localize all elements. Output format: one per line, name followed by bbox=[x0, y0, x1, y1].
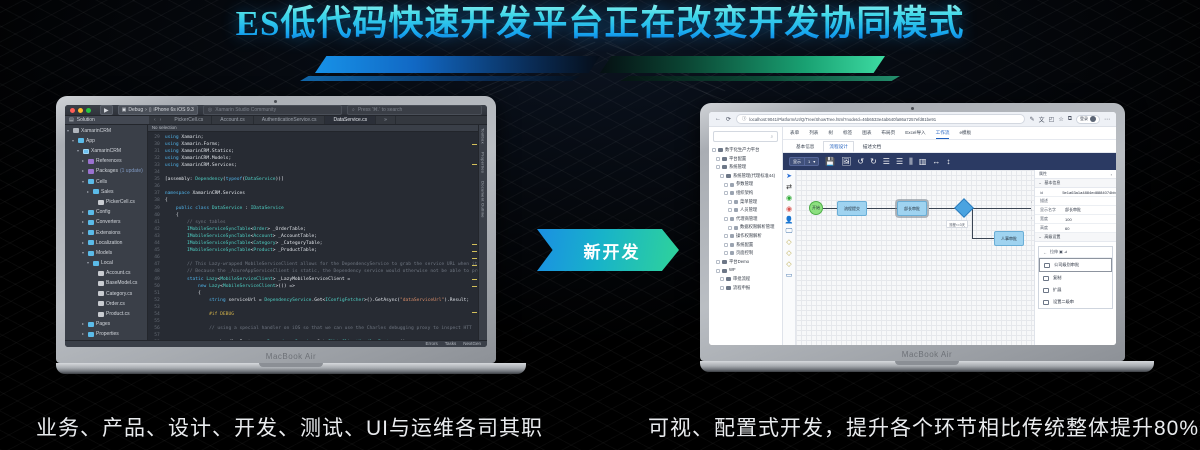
config-icon: ▣ bbox=[122, 107, 127, 113]
flip-horizontal-icon[interactable]: ↔ bbox=[932, 158, 940, 166]
node-manager-approval[interactable]: 部长审批 bbox=[897, 201, 927, 216]
solution-tree-item-label: Packages bbox=[96, 166, 118, 176]
tab-account[interactable]: Account.cs bbox=[212, 116, 253, 123]
node-start[interactable]: 开始 bbox=[809, 201, 823, 215]
start-event-icon[interactable]: ◉ bbox=[786, 195, 792, 202]
context-menu-item-label: 扩展 bbox=[1053, 287, 1061, 293]
app-nav-tree[interactable]: 数字化生产力平台平台配置系统管理系统管理(代理标准44)参数管理组织架构菜单管理… bbox=[709, 146, 782, 292]
disclosure-icon[interactable]: ▸ bbox=[82, 207, 86, 217]
status-errors[interactable]: Errors bbox=[425, 341, 437, 346]
properties-group-advanced[interactable]: − 高级设置 bbox=[1035, 233, 1116, 242]
app-nav-item-label: 系统配置 bbox=[736, 241, 753, 250]
checkbox[interactable] bbox=[724, 217, 728, 221]
code-line: 56 // using a special handler on iOS so … bbox=[148, 325, 478, 332]
tree-item-note: (1 update) bbox=[120, 166, 143, 176]
zoom-selector[interactable]: 显示 1 ▾ bbox=[789, 157, 819, 166]
property-key: 宽度 bbox=[1035, 216, 1065, 222]
folder-icon bbox=[88, 210, 94, 215]
app-menu-item[interactable]: 标签 bbox=[843, 130, 852, 136]
solution-pad-icon: ▤ bbox=[69, 117, 74, 123]
line-number: 40 bbox=[148, 212, 165, 219]
solution-tree-item[interactable]: ▾XamarinCRM bbox=[65, 126, 147, 136]
folder-icon bbox=[722, 157, 727, 161]
app-menu-item[interactable]: 树 bbox=[828, 130, 833, 136]
node-hr-approval[interactable]: 人事审批 bbox=[994, 231, 1024, 246]
app-nav-item[interactable]: 页面控制 bbox=[712, 249, 782, 258]
solution-tree-item[interactable]: ▸Localization bbox=[65, 238, 147, 248]
system-task-icon[interactable]: 🖵 bbox=[786, 228, 793, 235]
property-row[interactable]: 显示名字部长审批 bbox=[1035, 206, 1116, 215]
code-line: 35[assembly: Dependency(typeof(DataServi… bbox=[148, 176, 478, 183]
properties-group-basic[interactable]: − 基本信息 bbox=[1035, 179, 1116, 188]
app-nav-item[interactable]: 平台配置 bbox=[712, 155, 782, 164]
checkbox[interactable] bbox=[712, 148, 716, 152]
line-number: 48 bbox=[148, 268, 165, 275]
title-accent-bar-right bbox=[600, 56, 885, 73]
app-menu-item[interactable]: e模板 bbox=[959, 130, 971, 136]
app-nav-item[interactable]: 系统管理(代理标准44) bbox=[712, 172, 782, 181]
laptop-right-lid: ← ⟳ ⓘ localhost:9041/Platform/UI/Q/Tree/… bbox=[700, 103, 1125, 361]
image-icon[interactable]: 🖼 bbox=[841, 158, 851, 166]
folder-icon bbox=[88, 179, 94, 184]
laptop-right-brand-label: MacBook Air bbox=[700, 350, 1154, 359]
app-menu-item[interactable]: 表单 bbox=[790, 130, 799, 136]
app-main: 表单列表树标签图表布局页Excel导入工作流e模板 基本信息流程设计描述文档 显… bbox=[783, 127, 1116, 345]
app-nav-item[interactable]: 菜单管理 bbox=[712, 198, 782, 207]
context-menu-header: ← 拉伸 ▣ ⊿ bbox=[1039, 247, 1112, 258]
disclosure-icon[interactable]: ▸ bbox=[82, 319, 86, 329]
document-icon bbox=[734, 226, 738, 230]
disclosure-icon[interactable]: ▸ bbox=[82, 228, 86, 238]
solution-tree-item[interactable]: BaseModel.cs bbox=[65, 278, 147, 288]
laptop-left-notch bbox=[259, 363, 323, 367]
node-anchor-icon[interactable]: ▫ bbox=[1031, 208, 1032, 212]
line-number: 52 bbox=[148, 297, 165, 304]
zoom-value: 1 bbox=[808, 159, 810, 164]
code-text bbox=[165, 169, 478, 176]
code-text bbox=[165, 254, 478, 261]
disclosure-icon[interactable]: ▸ bbox=[82, 156, 86, 166]
disclosure-icon[interactable]: ▸ bbox=[82, 217, 86, 227]
app-nav-item-label: 组织架构 bbox=[736, 189, 753, 198]
edit-icon[interactable]: ✎ bbox=[1030, 116, 1035, 123]
code-line: 50 new Lazy<MobileServiceClient>(() => bbox=[148, 283, 478, 290]
solution-tree-item[interactable]: ▸Sales bbox=[65, 187, 147, 197]
properties-header: 属性 › bbox=[1035, 170, 1116, 179]
solution-tree-item[interactable]: ▾Local bbox=[65, 258, 147, 268]
line-number: 30 bbox=[148, 141, 165, 148]
code-line: 47 // This Lazy-wrapped MobileServiceCli… bbox=[148, 261, 478, 268]
folder-icon bbox=[88, 240, 94, 245]
document-icon bbox=[730, 234, 734, 238]
solution-tree-item[interactable]: ▾XamarinCRM bbox=[65, 146, 147, 156]
checkbox[interactable] bbox=[728, 226, 732, 230]
folder-icon bbox=[93, 261, 99, 266]
folder-icon bbox=[722, 260, 727, 264]
code-line: 48 // Because the _AzureAppServiceClient… bbox=[148, 268, 478, 275]
checkbox[interactable] bbox=[720, 277, 724, 281]
expand-icon: − bbox=[1039, 235, 1041, 240]
file-icon bbox=[98, 200, 104, 205]
distribute-icon[interactable]: ▥ bbox=[919, 158, 927, 166]
code-line: 57 bbox=[148, 332, 478, 339]
tab-pickercell[interactable]: PickerCell.cs bbox=[166, 116, 212, 123]
folder-icon bbox=[726, 174, 731, 178]
app-menu-item[interactable]: 布局页 bbox=[881, 130, 895, 136]
purple-icon bbox=[88, 169, 94, 174]
line-number: 50 bbox=[148, 283, 165, 290]
context-menu-items[interactable]: 公司级别审批复制扩展设置二级审 bbox=[1039, 258, 1112, 308]
rail-toolbox[interactable]: Toolbox bbox=[481, 128, 486, 144]
gateway-icon-2[interactable]: ◇ bbox=[786, 250, 791, 257]
checkbox[interactable] bbox=[716, 269, 720, 273]
menu-item-icon bbox=[1043, 288, 1049, 293]
solution-tree-item-label: Category.cs bbox=[106, 289, 132, 299]
webcam-icon bbox=[274, 100, 277, 103]
code-text: IMobileServiceSyncTable<Account> _Accoun… bbox=[165, 233, 478, 240]
user-task-icon[interactable]: 👤 bbox=[785, 217, 794, 224]
code-text: IMobileServiceSyncTable<Order> _OrderTab… bbox=[165, 226, 478, 233]
code-line: 30using Xamarin.Forms; bbox=[148, 141, 478, 148]
chevron-down-icon: ▾ bbox=[813, 159, 815, 164]
ide-search-field[interactable]: ⌕ Press '⌘.' to search bbox=[347, 105, 482, 115]
menu-item-icon bbox=[1043, 276, 1049, 281]
code-line: 39 public class DataService : IDataServi… bbox=[148, 205, 478, 212]
context-menu-item[interactable]: 复制 bbox=[1039, 272, 1112, 284]
context-menu-item[interactable]: 扩展 bbox=[1039, 284, 1112, 296]
line-number: 58 bbox=[148, 339, 165, 340]
folder-icon bbox=[88, 322, 94, 327]
save-icon[interactable]: 💾 bbox=[825, 158, 835, 166]
code-text: new Lazy<MobileServiceClient>(() => bbox=[165, 283, 478, 290]
checkbox[interactable] bbox=[716, 157, 720, 161]
app-nav-item[interactable]: 平台Demo bbox=[712, 258, 782, 267]
checkbox[interactable] bbox=[728, 200, 732, 204]
context-menu-item-label: 公司级别审批 bbox=[1054, 262, 1079, 268]
line-number: 45 bbox=[148, 247, 165, 254]
app-nav-item[interactable]: 数据权限解析管理 bbox=[712, 223, 782, 232]
property-row[interactable]: id5e1a63a1a4884ed8884074bbe7 bbox=[1035, 188, 1116, 197]
code-line: 29using Xamarin; bbox=[148, 134, 478, 141]
browser-actions: ✎ 文 ◰ ☆ ⧉ 登录 ⋯ bbox=[1030, 115, 1110, 124]
subprocess-icon[interactable]: ▭ bbox=[786, 272, 793, 279]
window-traffic-lights[interactable] bbox=[70, 108, 91, 113]
property-row[interactable]: 高度60 bbox=[1035, 224, 1116, 233]
line-number: 54 bbox=[148, 311, 165, 318]
build-config-selector[interactable]: ▣ Debug › ▯ iPhone 6s iOS 9.3 bbox=[118, 105, 198, 115]
app-nav-item-label: 审批流程 bbox=[733, 275, 750, 284]
checkbox[interactable] bbox=[724, 251, 728, 255]
laptop-left-brand-label: MacBook Air bbox=[56, 352, 526, 361]
solution-tree-item[interactable]: Category.cs bbox=[65, 289, 147, 299]
editor-pane: No selection 29using Xamarin;30using Xam bbox=[148, 125, 478, 340]
context-menu-item-label: 设置二级审 bbox=[1053, 299, 1074, 305]
transition-icon[interactable]: ⇄ bbox=[786, 184, 792, 191]
properties-panel: 属性 › − 基本信息 id5e1a63a1a4884ed8884074bbe7… bbox=[1034, 170, 1116, 345]
solution-tree-item[interactable]: ▸Config bbox=[65, 207, 147, 217]
page-title: ES低代码快速开发平台正在改变开发协同模式 bbox=[236, 2, 965, 46]
edge-dec-hr bbox=[972, 238, 994, 239]
file-icon bbox=[98, 281, 104, 286]
back-arrow-icon[interactable]: ← bbox=[715, 116, 721, 122]
solution-tree-item[interactable]: Order.cs bbox=[65, 299, 147, 309]
arrow-left-icon[interactable]: ← bbox=[1043, 250, 1047, 255]
code-line: 31using XamarinCRM.Statics; bbox=[148, 148, 478, 155]
gateway-icon-3[interactable]: ◇ bbox=[786, 261, 791, 268]
line-number: 35 bbox=[148, 176, 165, 183]
ide-toolbar: ▶ ▣ Debug › ▯ iPhone 6s iOS 9.3 ◎ Xamari… bbox=[65, 105, 487, 116]
code-line: 52 string serviceUrl = DependencyService… bbox=[148, 297, 478, 304]
property-row[interactable]: 宽度100 bbox=[1035, 215, 1116, 224]
status-tasks[interactable]: Tasks bbox=[445, 341, 457, 346]
rail-document-outline[interactable]: Document Outline bbox=[481, 181, 486, 218]
solution-tree-item[interactable]: Product.cs bbox=[65, 309, 147, 319]
disclosure-icon[interactable]: ▾ bbox=[82, 177, 86, 187]
line-number: 42 bbox=[148, 226, 165, 233]
code-line: 44 IMobileServiceSyncTable<Category> _Ca… bbox=[148, 240, 478, 247]
purple-icon bbox=[88, 159, 94, 164]
solution-tree-item-label: App bbox=[86, 136, 95, 146]
checkbox[interactable] bbox=[720, 286, 724, 290]
code-line: 33using XamarinCRM.Services; bbox=[148, 162, 478, 169]
solution-tree-item[interactable]: ▾Models bbox=[65, 248, 147, 258]
app-nav-item[interactable]: 参数管理 bbox=[712, 180, 782, 189]
app-nav-item[interactable]: 组织架构 bbox=[712, 189, 782, 198]
tab-dataservice[interactable]: DataService.cs bbox=[325, 116, 376, 123]
app-nav-item-label: 平台Demo bbox=[729, 258, 749, 267]
checkbox[interactable] bbox=[720, 174, 724, 178]
solution-tree-item-label: Product.cs bbox=[106, 309, 130, 319]
ide-status-bar: Errors Tasks NextGen bbox=[65, 340, 487, 347]
checkbox[interactable] bbox=[716, 260, 720, 264]
flip-vertical-icon[interactable]: ↕ bbox=[946, 158, 950, 166]
disclosure-icon[interactable]: ▾ bbox=[67, 126, 71, 136]
property-value[interactable]: 60 bbox=[1065, 226, 1116, 231]
property-value[interactable]: 5e1a63a1a4884ed8884074bbe7 bbox=[1062, 190, 1116, 195]
code-text bbox=[165, 318, 478, 325]
checkbox[interactable] bbox=[728, 208, 732, 212]
workflow-palette[interactable]: ➤ ⇄ ◉ ◉ 👤 🖵 ◇ ◇ ◇ ▭ bbox=[783, 170, 796, 345]
line-number: 51 bbox=[148, 290, 165, 297]
checkbox[interactable] bbox=[724, 191, 728, 195]
document-icon bbox=[734, 208, 738, 212]
solution-tree-item[interactable]: ▸Extensions bbox=[65, 228, 147, 238]
end-event-icon[interactable]: ◉ bbox=[786, 206, 792, 213]
code-text: // sync tables bbox=[165, 219, 478, 226]
folder-icon bbox=[88, 230, 94, 235]
title-area: ES低代码快速开发平台正在改变开发协同模式 bbox=[0, 2, 1200, 46]
checkbox[interactable] bbox=[724, 183, 728, 187]
solution-tree-item[interactable]: ▸Properties bbox=[65, 329, 147, 339]
app-nav-item[interactable]: 系统配置 bbox=[712, 241, 782, 250]
tab-nav-arrows[interactable]: ‹› bbox=[149, 116, 166, 123]
ellipsis-icon[interactable]: ⋯ bbox=[1104, 116, 1110, 123]
document-icon bbox=[730, 183, 734, 187]
app-nav-item[interactable]: 审批流程 bbox=[712, 275, 782, 284]
search-icon[interactable]: ⌕ bbox=[771, 134, 773, 139]
cursor-icon[interactable]: ➤ bbox=[786, 173, 792, 180]
ide-right-rail[interactable]: Toolbox Properties Document Outline bbox=[478, 125, 487, 340]
app-nav-item[interactable]: 代理商管理 bbox=[712, 215, 782, 224]
ide-file-tabs: ▤ Solution ‹› PickerCell.cs Account.cs A… bbox=[65, 116, 487, 124]
app-nav-item[interactable]: 系统管理 bbox=[712, 163, 782, 172]
undo-icon[interactable]: ↺ bbox=[857, 158, 864, 166]
checkbox[interactable] bbox=[716, 165, 720, 169]
app-nav-item-label: 流程申报 bbox=[733, 284, 750, 293]
file-icon bbox=[98, 271, 104, 276]
code-line: 40 { bbox=[148, 212, 478, 219]
disclosure-icon[interactable]: ▾ bbox=[77, 146, 81, 156]
properties-rows: id5e1a63a1a4884ed8884074bbe7描述显示名字部长审批宽度… bbox=[1035, 188, 1116, 233]
app-menu-item[interactable]: 工作流 bbox=[936, 127, 950, 139]
code-line: 43 IMobileServiceSyncTable<Account> _Acc… bbox=[148, 233, 478, 240]
app-nav-item-label: 代理商管理 bbox=[736, 215, 757, 224]
node-anchor-icon[interactable]: ▫ bbox=[1031, 200, 1032, 204]
node-decision[interactable] bbox=[954, 198, 974, 218]
line-number: 34 bbox=[148, 169, 165, 176]
document-icon bbox=[730, 191, 734, 195]
extensions-icon[interactable]: ⧉ bbox=[1068, 116, 1072, 123]
chevron-right-icon: › bbox=[160, 117, 162, 123]
rail-properties[interactable]: Properties bbox=[481, 152, 486, 173]
code-editor[interactable]: 29using Xamarin;30using Xamarin.Forms;31… bbox=[148, 132, 478, 340]
checkbox[interactable] bbox=[724, 243, 728, 247]
line-number: 56 bbox=[148, 325, 165, 332]
app-nav-item[interactable]: 流程申报 bbox=[712, 284, 782, 293]
document-icon bbox=[730, 251, 734, 255]
code-line: 42 IMobileServiceSyncTable<Order> _Order… bbox=[148, 226, 478, 233]
solution-tree-item-label: Properties bbox=[96, 329, 119, 339]
folder-icon bbox=[88, 332, 94, 337]
reload-icon[interactable]: ⟳ bbox=[726, 116, 731, 123]
translate-icon[interactable]: 文 bbox=[1039, 115, 1045, 124]
node-anchor-icon[interactable]: ▫ bbox=[1031, 216, 1032, 220]
code-line: 54 #if DEBUG bbox=[148, 311, 478, 318]
status-nextgen[interactable]: NextGen bbox=[463, 341, 481, 346]
title-accent-bar-right-secondary bbox=[620, 76, 900, 81]
app-menu-item[interactable]: 列表 bbox=[809, 130, 818, 136]
line-number: 38 bbox=[148, 197, 165, 204]
menu-item-icon bbox=[1044, 263, 1050, 268]
app-menu-item[interactable]: Excel导入 bbox=[905, 130, 925, 136]
align-right-icon[interactable]: ☰ bbox=[896, 158, 903, 166]
code-text: static Lazy<MobileServiceClient> _LazyMo… bbox=[165, 276, 478, 283]
code-text: using XamarinCRM.Statics; bbox=[165, 148, 478, 155]
redo-icon[interactable]: ↻ bbox=[870, 158, 877, 166]
line-number: 33 bbox=[148, 162, 165, 169]
app-menu-item[interactable]: 图表 bbox=[862, 130, 871, 136]
collapse-icon[interactable]: › bbox=[1111, 172, 1112, 177]
app-nav-item[interactable]: 数字化生产力平台 bbox=[712, 146, 782, 155]
document-icon bbox=[730, 243, 734, 247]
line-number: 37 bbox=[148, 190, 165, 197]
app-nav-item[interactable]: WF bbox=[712, 266, 782, 275]
sidebar-search-input[interactable]: ⌕ bbox=[713, 131, 778, 142]
solution-tree-item[interactable]: ▾App bbox=[65, 136, 147, 146]
solution-tree-item[interactable]: ▸Converters bbox=[65, 217, 147, 227]
folder-icon bbox=[93, 189, 99, 194]
app-subtab-row[interactable]: 基本信息流程设计描述文档 bbox=[783, 140, 1116, 153]
browser-window: ← ⟳ ⓘ localhost:9041/Platform/UI/Q/Tree/… bbox=[709, 112, 1116, 345]
node-submit[interactable]: 流程提交 bbox=[837, 201, 867, 216]
solution-tree-item[interactable]: ▾Cells bbox=[65, 177, 147, 187]
property-value[interactable]: 部长审批 bbox=[1065, 207, 1116, 213]
solution-tree-item[interactable]: PickerCell.cs bbox=[65, 197, 147, 207]
disclosure-icon[interactable]: ▸ bbox=[82, 329, 86, 339]
solution-tree-item[interactable]: ▸Packages (1 update) bbox=[65, 166, 147, 176]
app-subtab[interactable]: 描述文档 bbox=[857, 141, 887, 152]
tab-authenticationservice[interactable]: AuthenticationService.cs bbox=[254, 116, 326, 123]
app-nav-item[interactable]: 操作权限解析 bbox=[712, 232, 782, 241]
workflow-toolbar: 显示 1 ▾ 💾 🖼 ↺ ↻ ☰ ☰ ⫼ ▥ bbox=[783, 153, 1116, 170]
gateway-icon-1[interactable]: ◇ bbox=[786, 239, 791, 246]
disclosure-icon[interactable]: ▸ bbox=[82, 238, 86, 248]
property-row[interactable]: 描述 bbox=[1035, 197, 1116, 206]
code-text: using XamarinCRM.Services; bbox=[165, 162, 478, 169]
ide-status-field: ◎ Xamarin Studio Community bbox=[203, 105, 342, 115]
property-value[interactable]: 100 bbox=[1065, 217, 1116, 222]
favorite-icon[interactable]: ☆ bbox=[1058, 116, 1063, 123]
code-text: var handlerFactory = DependencyService.G… bbox=[165, 339, 478, 340]
collections-icon[interactable]: ◰ bbox=[1049, 116, 1055, 123]
align-top-icon[interactable]: ⫼ bbox=[909, 158, 913, 166]
disclosure-icon[interactable]: ▾ bbox=[82, 248, 86, 258]
profile-button[interactable]: 登录 bbox=[1076, 115, 1100, 124]
tab-overflow[interactable]: » bbox=[376, 116, 396, 123]
align-left-icon[interactable]: ☰ bbox=[883, 158, 890, 166]
solution-tree[interactable]: ▾XamarinCRM▾App▾XamarinCRM▸References▸Pa… bbox=[65, 125, 147, 340]
app-subtab[interactable]: 流程设计 bbox=[823, 141, 853, 152]
code-line: 55 bbox=[148, 318, 478, 325]
solution-tree-item[interactable]: ▸References bbox=[65, 156, 147, 166]
context-menu-item[interactable]: 设置二级审 bbox=[1039, 296, 1112, 308]
code-line: 34 bbox=[148, 169, 478, 176]
property-key: 描述 bbox=[1035, 198, 1065, 204]
solution-tree-item[interactable]: Account.cs bbox=[65, 268, 147, 278]
disclosure-icon[interactable]: ▸ bbox=[82, 166, 86, 176]
property-key: 高度 bbox=[1035, 225, 1065, 231]
app-subtab[interactable]: 基本信息 bbox=[790, 141, 820, 152]
checkbox[interactable] bbox=[724, 234, 728, 238]
disclosure-icon[interactable]: ▾ bbox=[72, 136, 76, 146]
workflow-canvas[interactable]: 流程<=3天 开始 流程提交 部长审批 bbox=[796, 170, 1034, 345]
disclosure-icon[interactable]: ▾ bbox=[87, 258, 91, 268]
code-text: using Xamarin; bbox=[165, 134, 478, 141]
app-nav-item[interactable]: 人员管理 bbox=[712, 206, 782, 215]
app-nav-item-label: 操作权限解析 bbox=[736, 232, 762, 241]
context-menu-item[interactable]: 公司级别审批 bbox=[1039, 258, 1112, 272]
solution-tree-item-label: Order.cs bbox=[106, 299, 125, 309]
solution-tree-item-label: Cells bbox=[96, 177, 107, 187]
solution-tree-item-label: Converters bbox=[96, 217, 120, 227]
webcam-icon bbox=[911, 107, 914, 110]
play-icon: ▶ bbox=[104, 107, 109, 114]
code-text: [assembly: Dependency(typeof(DataService… bbox=[165, 176, 478, 183]
line-number: 49 bbox=[148, 276, 165, 283]
properties-title: 属性 bbox=[1039, 171, 1047, 177]
solution-tree-item[interactable]: ▸Pages bbox=[65, 319, 147, 329]
disclosure-icon[interactable]: ▸ bbox=[87, 187, 91, 197]
app-nav-item-label: 平台配置 bbox=[729, 155, 746, 164]
solution-tree-item-label: Account.cs bbox=[106, 268, 130, 278]
run-button[interactable]: ▶ bbox=[100, 105, 113, 115]
app-menu-row[interactable]: 表单列表树标签图表布局页Excel导入工作流e模板 bbox=[783, 127, 1116, 140]
url-input[interactable]: ⓘ localhost:9041/Platform/UI/Q/Tree/Show… bbox=[736, 114, 1025, 124]
folder-icon bbox=[718, 148, 723, 152]
line-number: 47 bbox=[148, 261, 165, 268]
laptop-left-base bbox=[56, 363, 526, 374]
title-accent-bar-left-secondary bbox=[300, 76, 580, 81]
